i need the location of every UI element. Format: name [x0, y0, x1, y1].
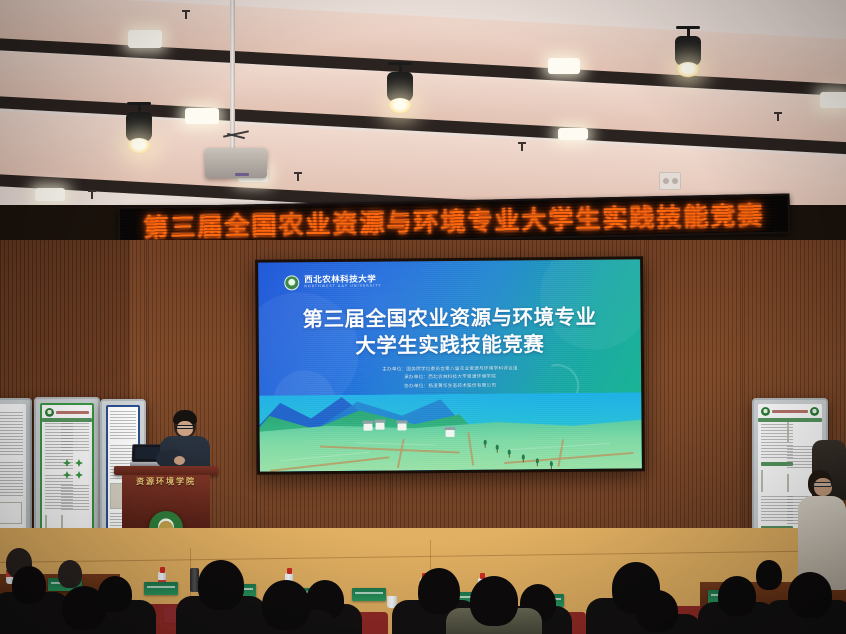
tree-icon-1	[484, 440, 487, 448]
house-icon-4	[446, 430, 455, 437]
audience-head	[58, 560, 82, 588]
ceiling-hook-3	[294, 172, 302, 181]
ceiling-hook-1	[182, 10, 190, 19]
stage-spotlight-2	[385, 62, 415, 114]
screen-title-line2: 大学生实践技能竞赛	[259, 330, 641, 360]
audience-head	[418, 568, 460, 614]
audience-head	[756, 560, 782, 590]
tree-icon-2	[496, 445, 499, 453]
panel-light-6	[558, 128, 588, 140]
ceiling	[0, 0, 846, 205]
audience-head	[12, 566, 46, 604]
audience-head	[470, 576, 518, 626]
ceiling-hook-2	[88, 190, 96, 199]
university-name-en: NORTHWEST A&F UNIVERSITY	[304, 285, 381, 289]
glasses-icon-right	[813, 482, 832, 487]
poster-seal-icon	[45, 408, 54, 417]
ceiling-hook-5	[774, 112, 782, 121]
wall-socket-right	[659, 172, 681, 190]
panel-light-5	[548, 58, 580, 74]
poster-seal-icon-right	[761, 407, 770, 416]
name-plate	[144, 582, 178, 595]
university-logo: 西北农林科技大学 NORTHWEST A&F UNIVERSITY	[284, 275, 381, 291]
panel-light-7	[820, 92, 846, 108]
ceiling-hook-4	[518, 142, 526, 151]
screen-title-line1: 第三届全国农业资源与环境专业	[258, 303, 640, 333]
audience-head	[788, 572, 832, 618]
projector-pole	[230, 0, 235, 150]
audience-head	[198, 560, 244, 610]
name-plate	[352, 588, 386, 601]
tree-icon-4	[522, 454, 525, 462]
audience-head	[636, 590, 678, 632]
organizer-list: 主办单位：国务院学位委员会第八届农业资源与环境学科评议组 承办单位：西北农林科技…	[259, 364, 641, 393]
ceiling-projector	[205, 142, 267, 180]
glasses-icon	[176, 425, 194, 429]
projection-screen: 西北农林科技大学 NORTHWEST A&F UNIVERSITY 第三届全国农…	[255, 256, 645, 474]
audience-head	[718, 576, 756, 616]
tree-icon-6	[550, 461, 553, 469]
tree-icon-3	[508, 449, 511, 457]
audience-head	[62, 586, 106, 630]
landscape-illustration	[259, 392, 642, 471]
house-icon-2	[375, 423, 384, 430]
auditorium-photo-scene: 第三届全国农业资源与环境专业大学生实践技能竞赛 西北农林科技大学 NORTHWE…	[0, 0, 846, 634]
stage-spotlight-3	[673, 26, 703, 78]
stage-spotlight-1	[124, 102, 154, 154]
house-icon-3	[398, 423, 407, 430]
screen-title: 第三届全国农业资源与环境专业 大学生实践技能竞赛	[258, 303, 640, 360]
house-icon-1	[364, 424, 373, 431]
panel-light-2	[185, 108, 219, 124]
podium-front-text: 资源环境学院	[130, 476, 202, 487]
tree-icon-5	[536, 458, 539, 466]
panel-light-1	[128, 30, 162, 48]
university-crest-icon	[284, 275, 299, 290]
poster-seal-icon-right-2	[810, 407, 819, 416]
panel-light-4	[35, 188, 65, 201]
audience-head	[262, 580, 310, 630]
